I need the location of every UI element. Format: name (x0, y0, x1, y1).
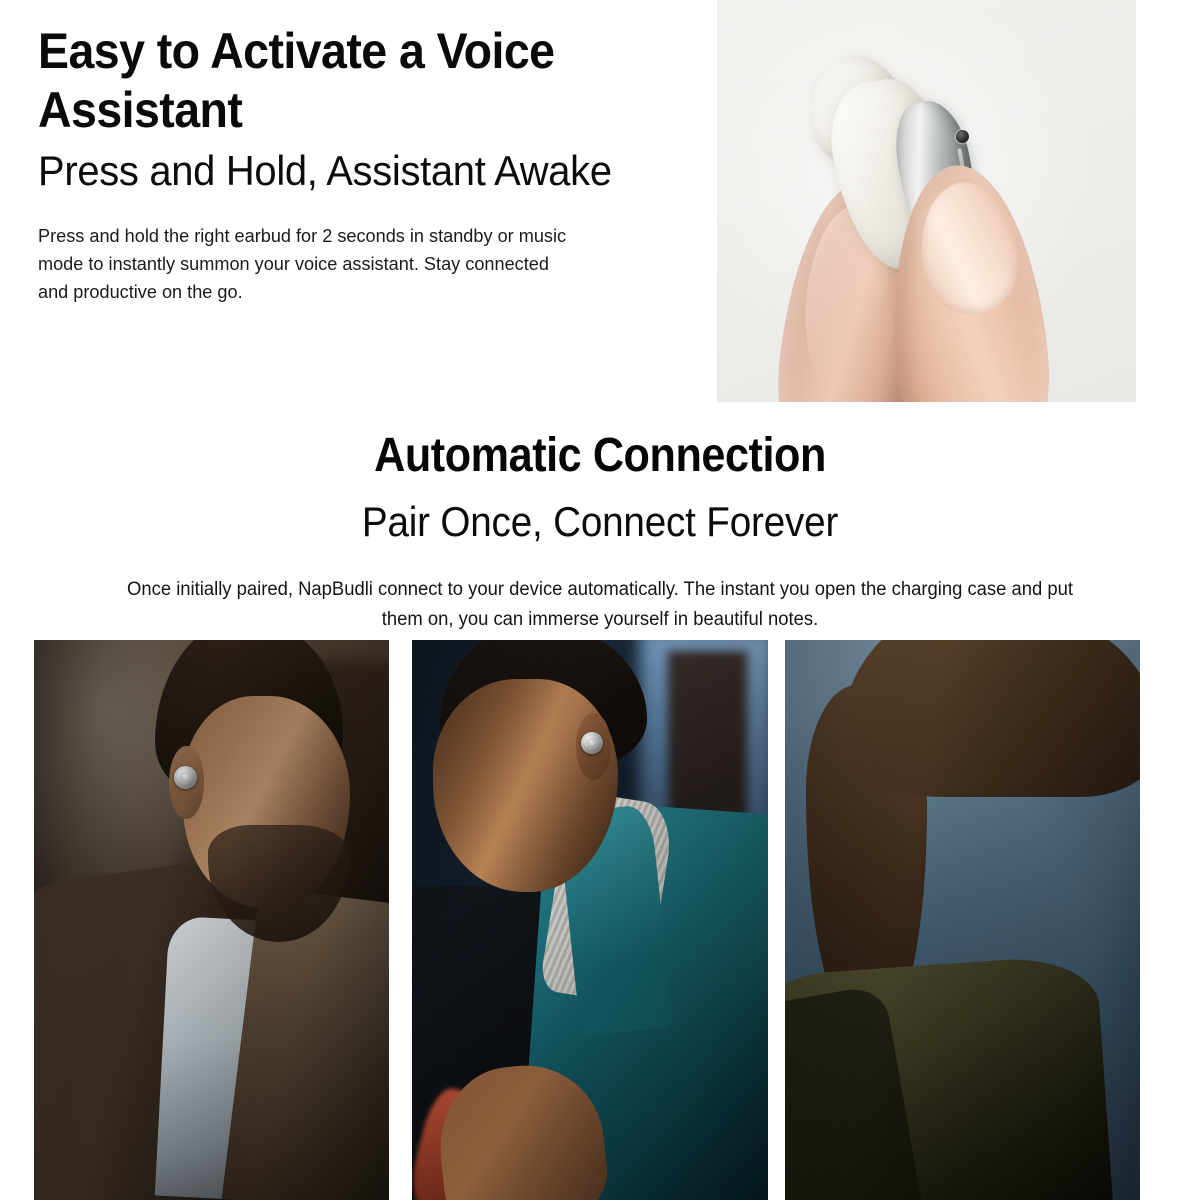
photo3-shadow (785, 640, 1140, 1200)
automatic-connection-section: Automatic Connection Pair Once, Connect … (0, 430, 1200, 635)
fingers-holding-earbud-photo (717, 0, 1136, 402)
lifestyle-photo-row (0, 640, 1200, 1200)
lifestyle-photo-long-hair (785, 640, 1140, 1200)
photo2-shadow (412, 640, 768, 1200)
automatic-connection-subheadline: Pair Once, Connect Forever (48, 497, 1152, 547)
voice-assistant-body: Press and hold the right earbud for 2 se… (38, 222, 572, 306)
voice-assistant-copy: Easy to Activate a Voice Assistant Press… (38, 22, 678, 306)
voice-assistant-headline: Easy to Activate a Voice Assistant (38, 22, 633, 140)
automatic-connection-body: Once initially paired, NapBudli connect … (115, 575, 1085, 635)
earbud-microphone-hole (956, 130, 969, 143)
automatic-connection-headline: Automatic Connection (60, 430, 1140, 483)
lifestyle-photo-businessman (34, 640, 389, 1200)
product-detail-page: Easy to Activate a Voice Assistant Press… (0, 0, 1200, 1200)
lifestyle-photo-teal-jacket (412, 640, 768, 1200)
photo1-shadow (34, 640, 389, 1200)
voice-assistant-subheadline: Press and Hold, Assistant Awake (38, 144, 646, 198)
